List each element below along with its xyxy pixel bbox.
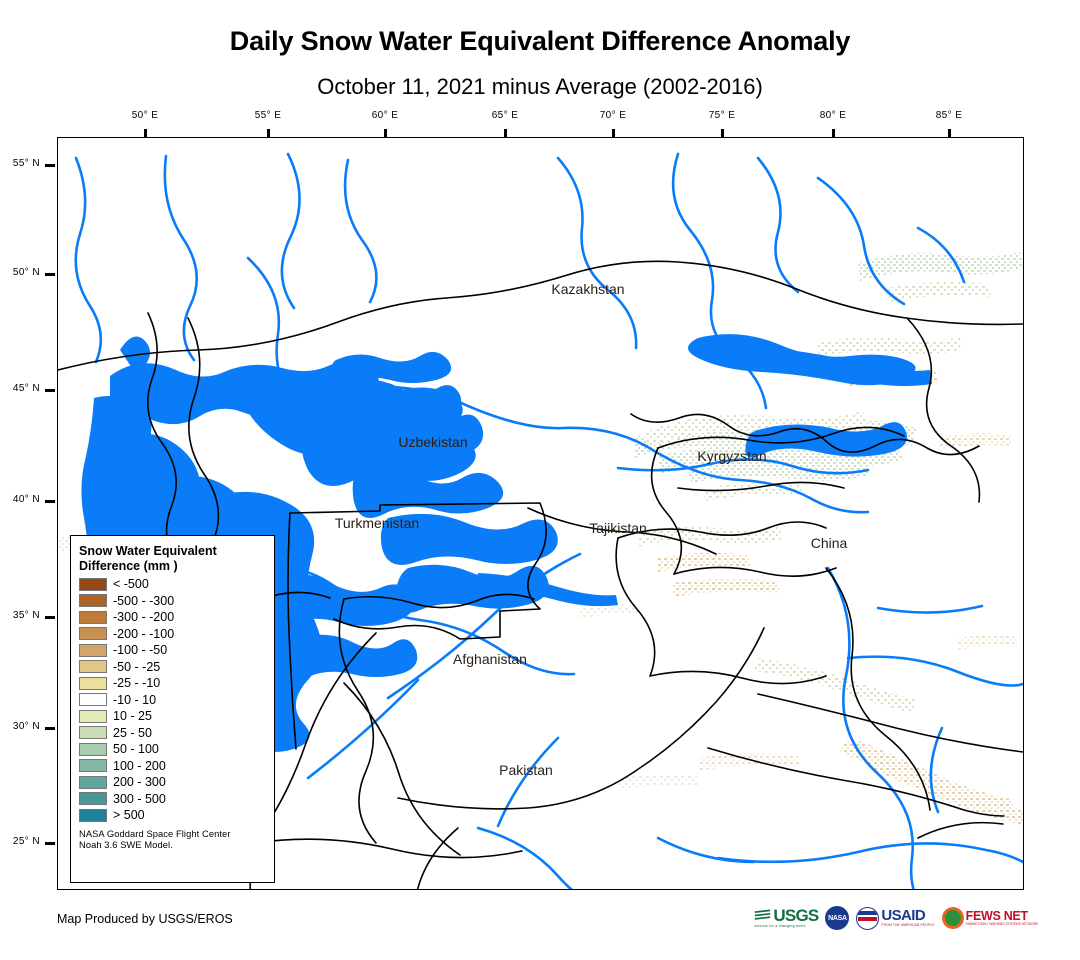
legend-row[interactable]: < -500 [79, 576, 267, 593]
legend-label: -200 - -100 [113, 627, 174, 641]
legend-swatch [79, 627, 107, 640]
country-label: Tajikistan [589, 520, 647, 536]
legend-label: 100 - 200 [113, 759, 166, 773]
legend-credit-line-1: NASA Goddard Space Flight Center [79, 829, 267, 840]
latitude-tick [45, 164, 55, 167]
legend-credit-line-2: Noah 3.6 SWE Model. [79, 840, 267, 851]
legend-row[interactable]: -25 - -10 [79, 675, 267, 692]
legend-title-line-1: Snow Water Equivalent [79, 544, 267, 559]
fews-wordmark: FEWS NET [966, 910, 1038, 922]
legend-row[interactable]: -300 - -200 [79, 609, 267, 626]
legend-swatch [79, 578, 107, 591]
legend-label: > 500 [113, 808, 145, 822]
map-legend[interactable]: Snow Water Equivalent Difference (mm ) <… [70, 535, 275, 883]
latitude-tick [45, 842, 55, 845]
legend-row[interactable]: -500 - -300 [79, 593, 267, 610]
latitude-tick-label: 50° N [0, 267, 40, 278]
page-subtitle: October 11, 2021 minus Average (2002-201… [0, 74, 1080, 100]
longitude-tick-label: 60° E [372, 110, 399, 121]
usgs-tagline: science for a changing world [754, 924, 805, 928]
latitude-tick-label: 35° N [0, 610, 40, 621]
country-label: Afghanistan [453, 651, 527, 667]
usgs-wave-icon [754, 908, 771, 923]
longitude-tick [721, 129, 724, 137]
country-label: China [811, 535, 848, 551]
usgs-wordmark: USGS [773, 908, 818, 923]
nasa-logo[interactable]: NASA [825, 903, 849, 933]
legend-row[interactable]: > 500 [79, 807, 267, 824]
usaid-logo[interactable]: USAID FROM THE AMERICAN PEOPLE [856, 903, 934, 933]
usaid-tagline: FROM THE AMERICAN PEOPLE [881, 923, 934, 927]
legend-swatch [79, 726, 107, 739]
legend-swatch [79, 792, 107, 805]
legend-swatch [79, 660, 107, 673]
nasa-meatball-icon: NASA [825, 906, 849, 930]
longitude-tick [832, 129, 835, 137]
legend-label: -500 - -300 [113, 594, 174, 608]
legend-row[interactable]: -10 - 10 [79, 692, 267, 709]
country-label: Kazakhstan [551, 281, 624, 297]
legend-swatch [79, 759, 107, 772]
footer-credit: Map Produced by USGS/EROS [57, 912, 233, 926]
longitude-tick-label: 55° E [255, 110, 282, 121]
legend-row[interactable]: -200 - -100 [79, 626, 267, 643]
longitude-tick-label: 85° E [936, 110, 963, 121]
legend-swatch [79, 611, 107, 624]
longitude-tick-label: 80° E [820, 110, 847, 121]
legend-row[interactable]: -50 - -25 [79, 659, 267, 676]
latitude-tick [45, 389, 55, 392]
latitude-tick-label: 25° N [0, 836, 40, 847]
longitude-tick [612, 129, 615, 137]
legend-label: 10 - 25 [113, 709, 152, 723]
legend-class-list: < -500-500 - -300-300 - -200-200 - -100-… [79, 576, 267, 824]
longitude-tick-label: 75° E [709, 110, 736, 121]
latitude-tick-label: 55° N [0, 158, 40, 169]
agency-logos: USGS science for a changing world NASA U… [754, 902, 1038, 934]
legend-row[interactable]: 100 - 200 [79, 758, 267, 775]
legend-label: 50 - 100 [113, 742, 159, 756]
longitude-tick [948, 129, 951, 137]
legend-label: 300 - 500 [113, 792, 166, 806]
longitude-tick-label: 65° E [492, 110, 519, 121]
legend-row[interactable]: 300 - 500 [79, 791, 267, 808]
page-title: Daily Snow Water Equivalent Difference A… [0, 26, 1080, 57]
legend-swatch [79, 644, 107, 657]
legend-row[interactable]: 25 - 50 [79, 725, 267, 742]
legend-label: -100 - -50 [113, 643, 167, 657]
legend-swatch [79, 743, 107, 756]
legend-row[interactable]: -100 - -50 [79, 642, 267, 659]
legend-label: 25 - 50 [113, 726, 152, 740]
legend-title-line-2: Difference (mm ) [79, 559, 267, 574]
longitude-tick-label: 50° E [132, 110, 159, 121]
longitude-tick [267, 129, 270, 137]
longitude-tick [144, 129, 147, 137]
legend-label: 200 - 300 [113, 775, 166, 789]
legend-title: Snow Water Equivalent Difference (mm ) [79, 544, 267, 573]
legend-swatch [79, 710, 107, 723]
longitude-tick [384, 129, 387, 137]
legend-swatch [79, 677, 107, 690]
legend-label: -25 - -10 [113, 676, 160, 690]
legend-swatch [79, 594, 107, 607]
legend-swatch [79, 693, 107, 706]
legend-swatch [79, 809, 107, 822]
latitude-tick [45, 500, 55, 503]
legend-label: -300 - -200 [113, 610, 174, 624]
legend-label: < -500 [113, 577, 149, 591]
latitude-tick-label: 30° N [0, 721, 40, 732]
usaid-wordmark: USAID [881, 909, 934, 923]
country-label: Kyrgyzstan [697, 448, 766, 464]
legend-row[interactable]: 50 - 100 [79, 741, 267, 758]
fews-net-logo[interactable]: FEWS NET FAMINE EARLY WARNING SYSTEMS NE… [942, 903, 1038, 933]
latitude-tick-label: 45° N [0, 383, 40, 394]
legend-label: -10 - 10 [113, 693, 156, 707]
latitude-tick [45, 273, 55, 276]
legend-row[interactable]: 10 - 25 [79, 708, 267, 725]
legend-row[interactable]: 200 - 300 [79, 774, 267, 791]
legend-label: -50 - -25 [113, 660, 160, 674]
longitude-tick [504, 129, 507, 137]
usgs-logo[interactable]: USGS science for a changing world [754, 903, 818, 933]
country-label: Turkmenistan [335, 515, 419, 531]
country-label: Uzbekistan [398, 434, 467, 450]
legend-swatch [79, 776, 107, 789]
latitude-tick-label: 40° N [0, 494, 40, 505]
latitude-tick [45, 616, 55, 619]
latitude-tick [45, 727, 55, 730]
fews-globe-icon [942, 907, 964, 929]
longitude-tick-label: 70° E [600, 110, 627, 121]
fews-tagline: FAMINE EARLY WARNING SYSTEMS NETWORK [966, 922, 1038, 926]
legend-credit: NASA Goddard Space Flight Center Noah 3.… [79, 829, 267, 851]
usaid-seal-icon [856, 907, 879, 930]
country-label: Pakistan [499, 762, 553, 778]
